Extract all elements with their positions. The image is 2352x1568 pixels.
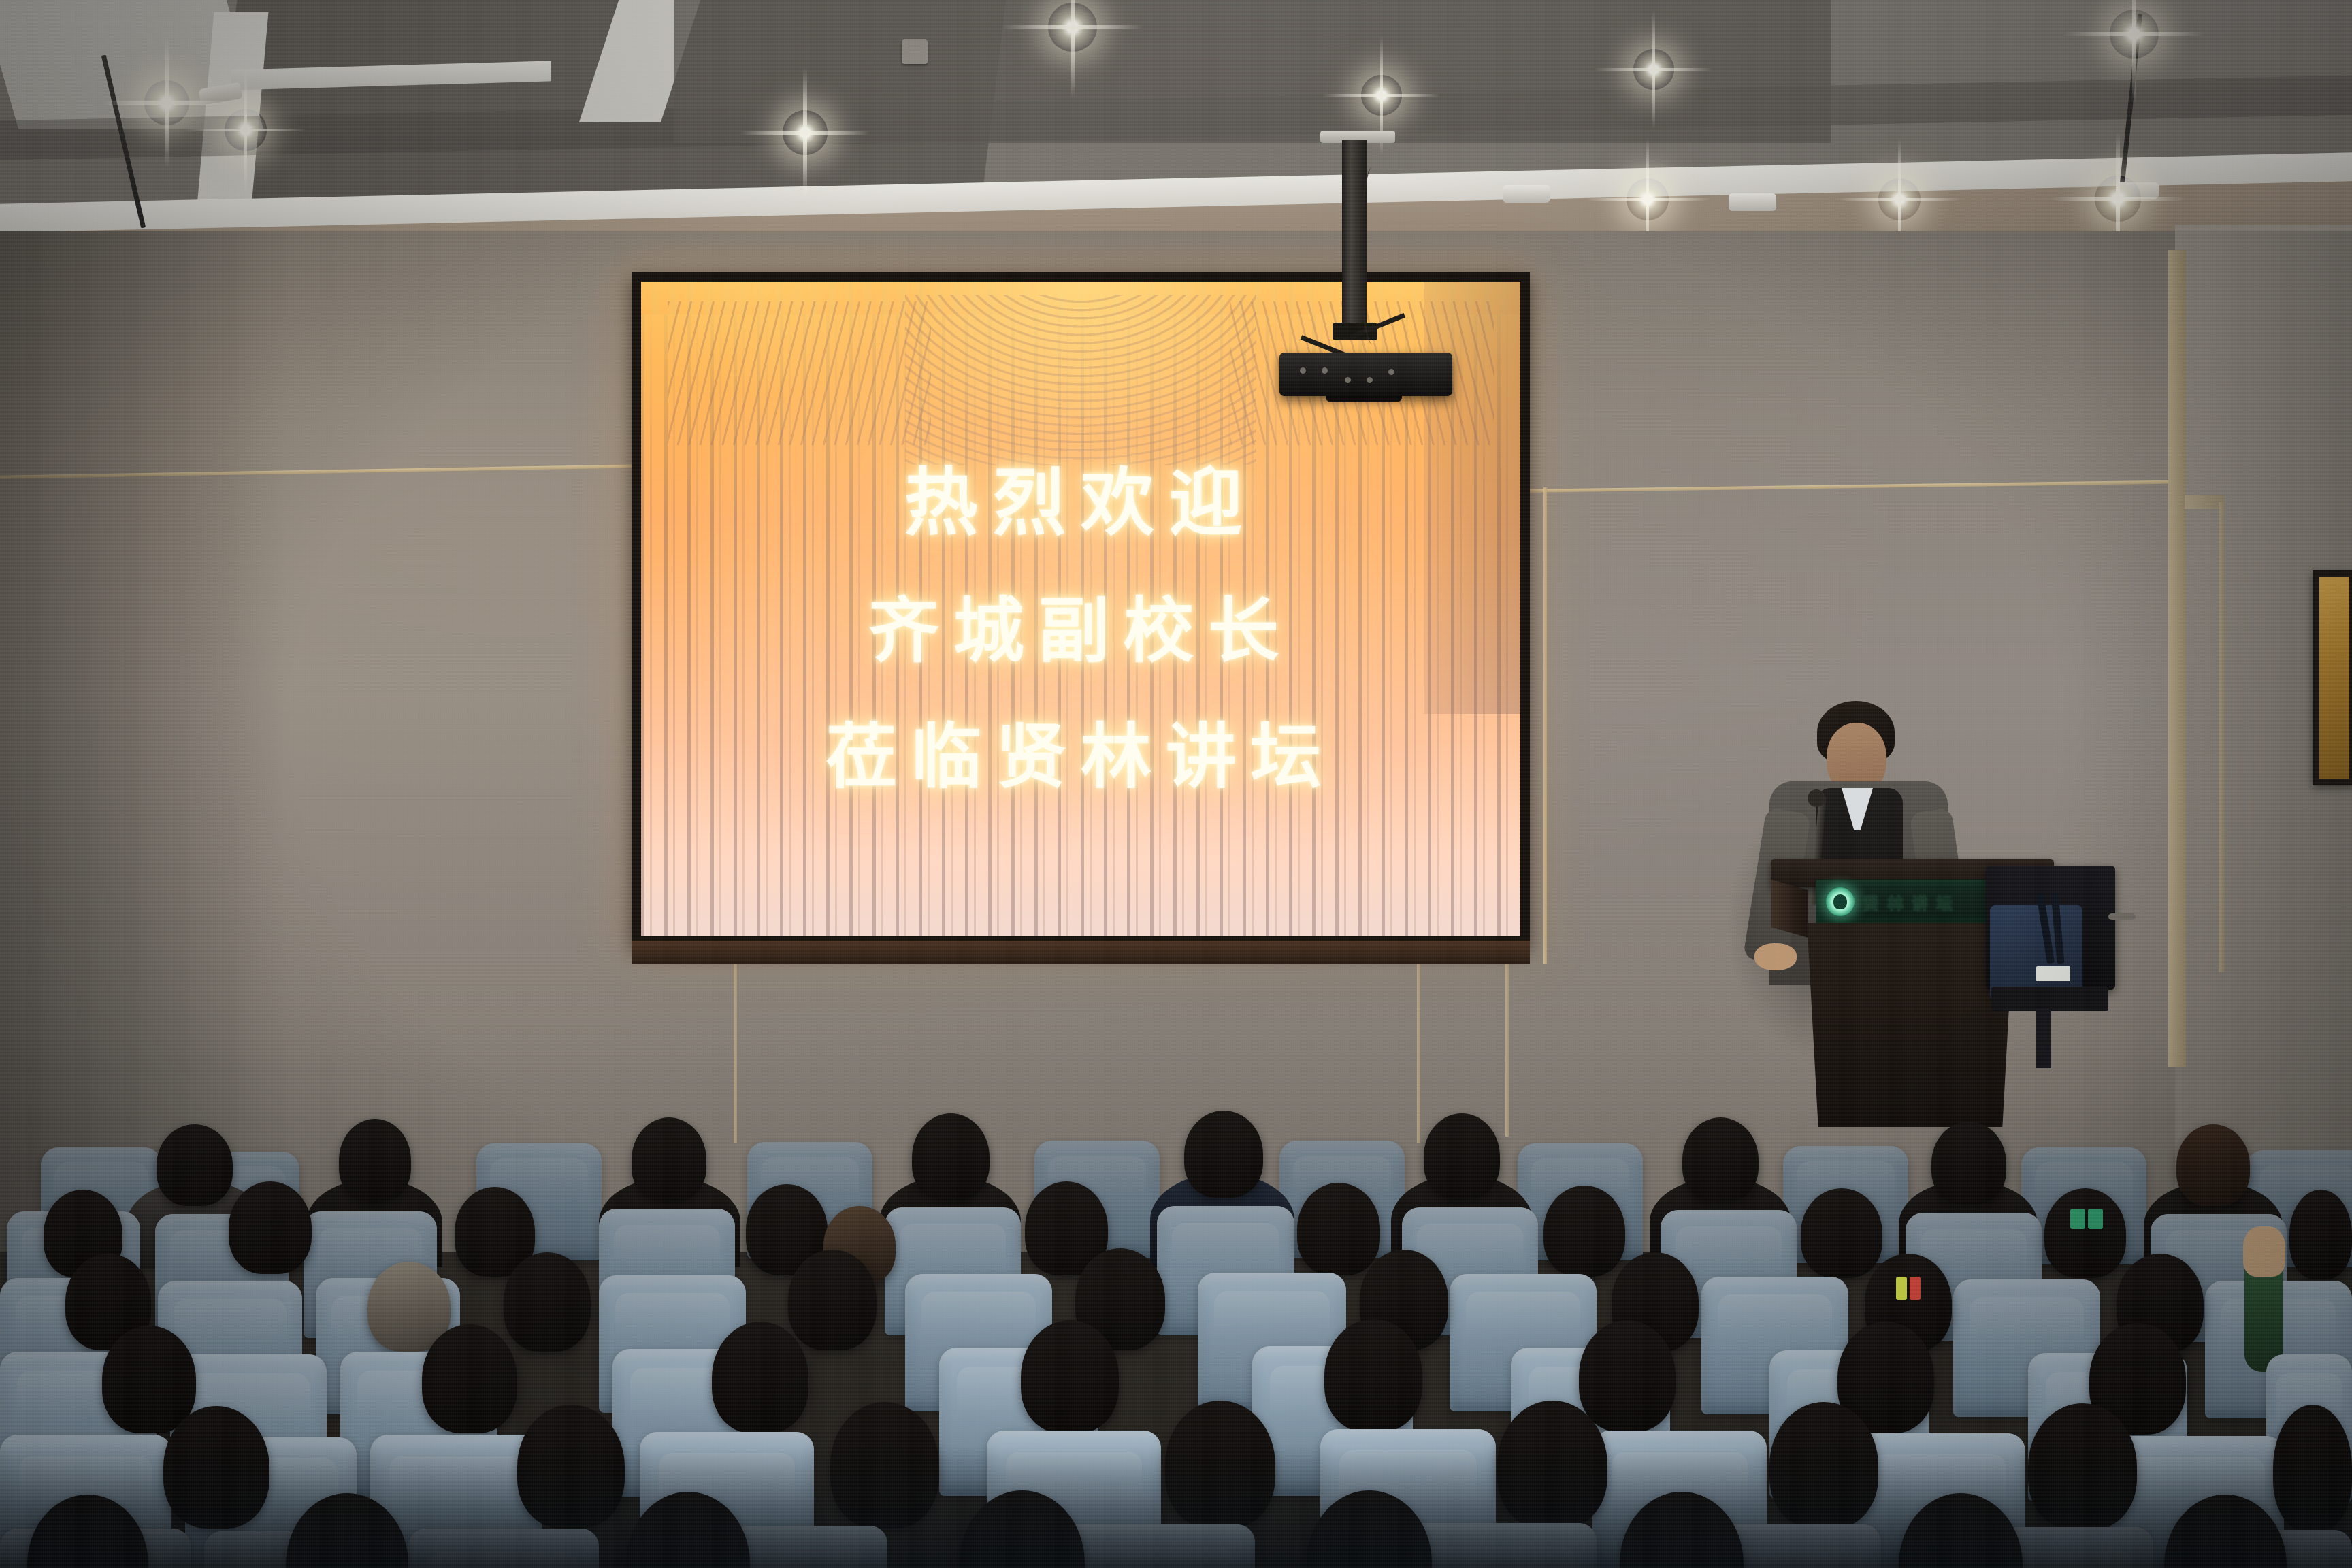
- audience-head: [1931, 1122, 2006, 1205]
- spotlight-glow: [1627, 178, 1669, 220]
- school-emblem-icon: [1826, 887, 1855, 916]
- speaker-hand-left: [1754, 943, 1797, 970]
- audience-head: [1543, 1186, 1625, 1277]
- slide-line-welcome: 热烈欢迎: [904, 444, 1257, 550]
- spotlight-glow: [2110, 10, 2159, 59]
- spotlight-glow: [1048, 3, 1097, 52]
- emblem-mark-icon: [1833, 894, 1847, 909]
- spotlight-glow: [1361, 75, 1402, 116]
- hair-accessory: [2070, 1209, 2085, 1229]
- spotlight-glow: [783, 110, 828, 155]
- ceiling-mounted-projector: [1279, 353, 1452, 396]
- wall-trim-vertical: [1543, 487, 1547, 964]
- audience-head: [504, 1252, 591, 1352]
- audience-head: [102, 1326, 196, 1433]
- audience-head: [788, 1249, 877, 1350]
- audience-head: [422, 1324, 517, 1433]
- audience-head: [1184, 1111, 1263, 1198]
- podium-name-plate: 贤 林 讲 坛: [1816, 879, 2006, 924]
- auditorium-scene: 热烈欢迎 齐城副校长 莅临贤林讲坛 贤 林 讲 坛: [0, 0, 2352, 1568]
- podium-sign-char: 林: [1887, 890, 1904, 914]
- audience-head: [1021, 1320, 1119, 1433]
- spotlight-glow: [1633, 49, 1674, 90]
- audience-head: [632, 1117, 706, 1202]
- raised-hand: [2243, 1226, 2285, 1277]
- slide-line-forum: 莅临贤林讲坛: [826, 699, 1336, 802]
- audience-head: [2176, 1124, 2250, 1206]
- audience-head: [912, 1113, 990, 1200]
- spotlight-glow: [144, 80, 189, 125]
- framed-picture-artwork: [2319, 577, 2349, 779]
- spotlight-glow: [1878, 178, 1921, 220]
- projector-indicator-icon: [1367, 377, 1373, 383]
- projector-cable: [1360, 167, 1385, 344]
- audience-head: [2289, 1190, 2352, 1279]
- bag-label-tag: [2036, 966, 2070, 981]
- podium-sign-char: 讲: [1912, 890, 1928, 914]
- projector-lens-hood: [1326, 395, 1402, 402]
- audience-head: [1801, 1188, 1882, 1278]
- audience-head: [712, 1322, 808, 1433]
- screen-bottom-rail: [632, 941, 1530, 964]
- foreground-darkening: [0, 1445, 2352, 1568]
- smoke-detector-icon: [902, 39, 928, 64]
- audience-head: [1682, 1117, 1759, 1202]
- podium-sign-char: 坛: [1936, 890, 1953, 914]
- slide-line-guest-title: 齐城副校长: [868, 573, 1293, 676]
- chair-armrest: [2108, 913, 2136, 920]
- hair-accessory: [1896, 1277, 1907, 1300]
- audience-head: [339, 1119, 411, 1202]
- audience-head: [229, 1181, 312, 1274]
- projector-indicator-icon: [1300, 367, 1306, 374]
- audience-head: [1324, 1319, 1422, 1432]
- audience-head: [1424, 1113, 1500, 1199]
- spotlight-glow: [225, 109, 267, 151]
- projector-indicator-icon: [1322, 367, 1328, 374]
- podium-sign-char: 贤: [1863, 890, 1879, 914]
- projector-indicator-icon: [1345, 377, 1351, 383]
- audience-head: [1579, 1320, 1676, 1432]
- shoulder-bag: [1990, 905, 2082, 1000]
- audience-head: [157, 1124, 233, 1206]
- spotlight-fixture: [1503, 185, 1550, 203]
- hair-accessory: [2088, 1209, 2103, 1229]
- hair-accessory: [1910, 1277, 1921, 1300]
- wall-framed-picture: [2313, 570, 2352, 785]
- spotlight-glow: [2095, 176, 2141, 222]
- spotlight-fixture: [1729, 193, 1776, 211]
- audience-head: [1297, 1183, 1380, 1275]
- projector-indicator-icon: [1388, 369, 1394, 375]
- audience-head: [2044, 1188, 2126, 1278]
- microphone-head-icon: [1808, 789, 1825, 807]
